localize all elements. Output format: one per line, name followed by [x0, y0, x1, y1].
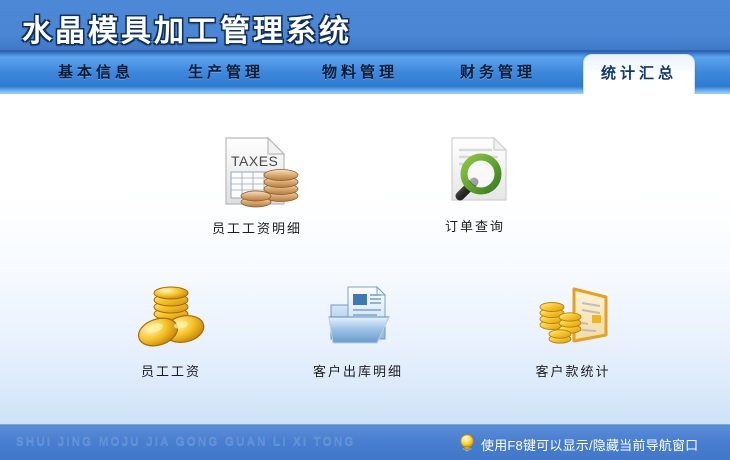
tab-basic-info[interactable]: 基本信息 — [44, 58, 148, 88]
status-tip-text: 使用F8键可以显示/隐藏当前导航窗口 — [481, 435, 698, 454]
gold-coins-icon — [128, 277, 214, 355]
coins-report-icon — [530, 277, 616, 355]
tab-label: 财务管理 — [460, 64, 536, 81]
navigation-panel: TAXES — [0, 94, 730, 424]
nav-item-employee-salary[interactable]: 员工工资 — [106, 277, 236, 380]
tab-label: 基本信息 — [58, 64, 134, 81]
taxes-document-coins-icon: TAXES — [214, 134, 300, 212]
nav-item-label: 客户款统计 — [508, 361, 638, 380]
nav-item-customer-outbound-detail[interactable]: 客户出库明细 — [293, 277, 423, 380]
svg-text:TAXES: TAXES — [231, 153, 278, 169]
tab-label: 统计汇总 — [601, 65, 677, 82]
status-pinyin-text: SHUI JING MOJU JIA GONG GUAN LI XI TONG — [16, 436, 355, 448]
nav-item-customer-payment-statistics[interactable]: 客户款统计 — [508, 277, 638, 380]
tab-finance-management[interactable]: 财务管理 — [446, 58, 550, 88]
tab-statistics-summary[interactable]: 统计汇总 — [583, 54, 695, 94]
status-bar: SHUI JING MOJU JIA GONG GUAN LI XI TONG … — [0, 424, 730, 460]
tab-label: 生产管理 — [188, 64, 264, 81]
tab-label: 物料管理 — [322, 64, 398, 81]
title-bar: 水晶模具加工管理系统 — [0, 0, 730, 52]
tab-material-management[interactable]: 物料管理 — [308, 58, 412, 88]
blue-folder-document-icon — [315, 277, 401, 355]
tab-production-management[interactable]: 生产管理 — [174, 58, 278, 88]
nav-item-label: 员工工资明细 — [192, 218, 322, 237]
nav-item-label: 订单查询 — [410, 216, 540, 235]
main-tab-bar: 基本信息 生产管理 物料管理 财务管理 统计汇总 — [0, 52, 730, 94]
lightbulb-icon — [455, 432, 479, 456]
document-magnifier-icon — [432, 132, 518, 210]
application-window: 水晶模具加工管理系统 基本信息 生产管理 物料管理 财务管理 统计汇总 — [0, 0, 730, 460]
nav-item-order-query[interactable]: 订单查询 — [410, 132, 540, 235]
nav-item-label: 客户出库明细 — [293, 361, 423, 380]
page-title: 水晶模具加工管理系统 — [22, 6, 352, 50]
nav-item-label: 员工工资 — [106, 361, 236, 380]
nav-item-salary-detail[interactable]: TAXES — [192, 134, 322, 237]
